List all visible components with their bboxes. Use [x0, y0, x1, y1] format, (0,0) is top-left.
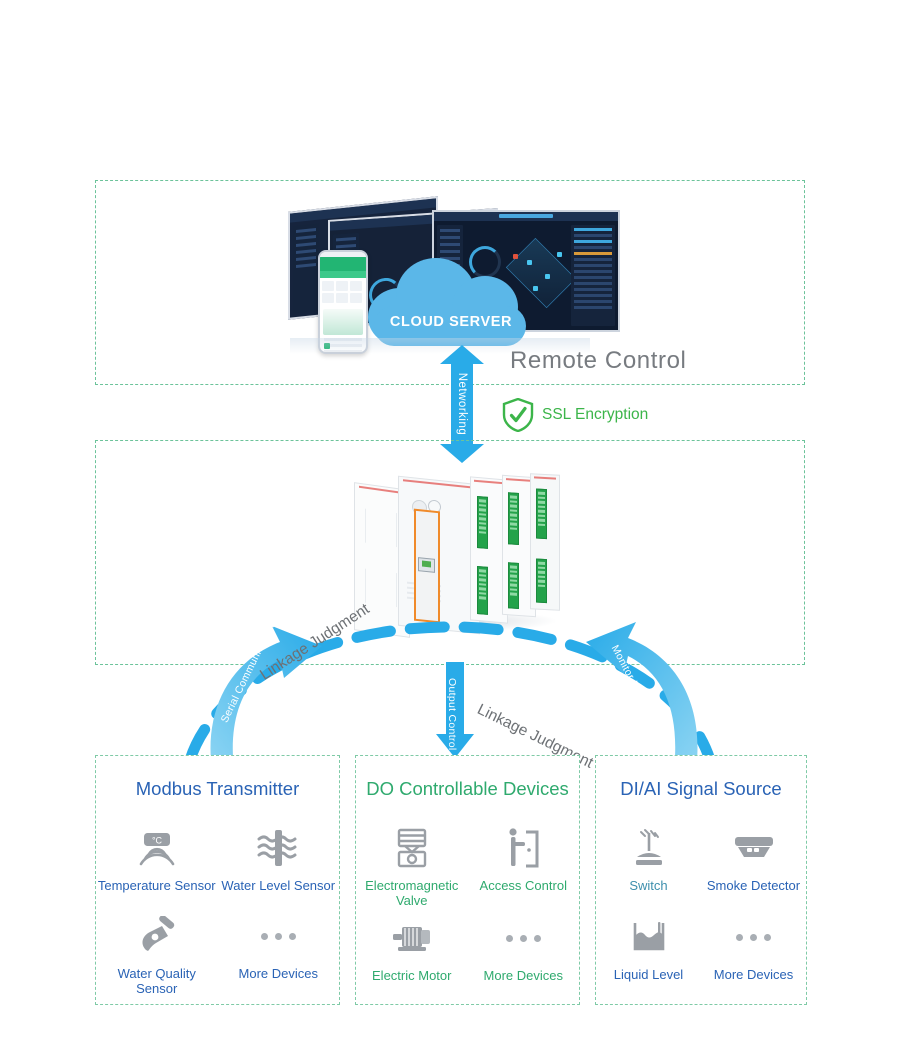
temperature-sensor-icon: °C: [135, 822, 179, 874]
cloud-server-shape: CLOUD SERVER: [368, 254, 534, 346]
device-item-temperature-sensor[interactable]: °C Temperature Sensor: [96, 818, 218, 906]
electromagnetic-valve-icon: [391, 822, 433, 874]
device-label: More Devices: [484, 968, 563, 983]
electric-motor-icon: [388, 912, 436, 964]
liquid-level-icon: [626, 911, 672, 963]
water-level-sensor-icon: [255, 822, 301, 874]
device-label: Access Control: [480, 878, 567, 893]
device-item-electric-motor[interactable]: Electric Motor: [356, 908, 468, 996]
ssl-encryption-label: SSL Encryption: [542, 406, 648, 424]
ellipsis-icon: [736, 911, 771, 963]
device-item-electromagnetic-valve[interactable]: Electromagnetic Valve: [356, 818, 468, 908]
ellipsis-icon: [506, 912, 541, 964]
card-modbus-transmitter: Modbus Transmitter °C Temperature Sensor: [95, 755, 340, 1005]
device-item-more-devices[interactable]: More Devices: [468, 908, 580, 996]
device-item-more-devices[interactable]: More Devices: [701, 907, 806, 996]
networking-label: Networking: [456, 373, 468, 436]
device-item-access-control[interactable]: Access Control: [468, 818, 580, 908]
device-label: Electric Motor: [372, 968, 451, 983]
device-label: Temperature Sensor: [98, 878, 216, 893]
diagram-canvas: CLOUD SERVER Remote Control Networking S…: [0, 0, 900, 1052]
device-label: More Devices: [239, 966, 318, 981]
device-label: Switch: [629, 878, 667, 893]
device-label: Electromagnetic Valve: [356, 878, 468, 908]
water-quality-sensor-icon: [134, 910, 180, 962]
cloud-platform-illustration: CLOUD SERVER: [280, 198, 620, 350]
device-item-more-devices[interactable]: More Devices: [218, 906, 340, 996]
remote-control-title: Remote Control: [510, 347, 686, 375]
switch-icon: [627, 822, 671, 874]
ethernet-port-icon: [418, 557, 435, 573]
device-label: Liquid Level: [614, 967, 683, 982]
device-item-water-quality-sensor[interactable]: Water Quality Sensor: [96, 906, 218, 996]
card-di-ai-signal-source: DI/AI Signal Source Switch: [595, 755, 807, 1005]
output-control-label: Output Control: [446, 678, 458, 751]
device-label: More Devices: [714, 967, 793, 982]
device-item-liquid-level[interactable]: Liquid Level: [596, 907, 701, 996]
device-item-water-level-sensor[interactable]: Water Level Sensor: [218, 818, 340, 906]
cloud-server-label: CLOUD SERVER: [368, 254, 534, 346]
access-control-icon: [502, 822, 544, 874]
shield-check-icon: [502, 398, 534, 432]
device-label: Water Quality Sensor: [96, 966, 218, 996]
device-item-smoke-detector[interactable]: Smoke Detector: [701, 818, 806, 907]
card-title: DO Controllable Devices: [356, 778, 579, 800]
device-label: Water Level Sensor: [221, 878, 335, 893]
svg-text:°C: °C: [152, 836, 163, 846]
ellipsis-icon: [261, 910, 296, 962]
ssl-encryption-badge: SSL Encryption: [502, 398, 648, 432]
card-do-controllable-devices: DO Controllable Devices Electromagnetic …: [355, 755, 580, 1005]
device-label: Smoke Detector: [707, 878, 800, 893]
device-item-switch[interactable]: Switch: [596, 818, 701, 907]
smoke-detector-icon: [730, 822, 778, 874]
card-title: DI/AI Signal Source: [596, 778, 806, 800]
card-title: Modbus Transmitter: [96, 778, 339, 800]
